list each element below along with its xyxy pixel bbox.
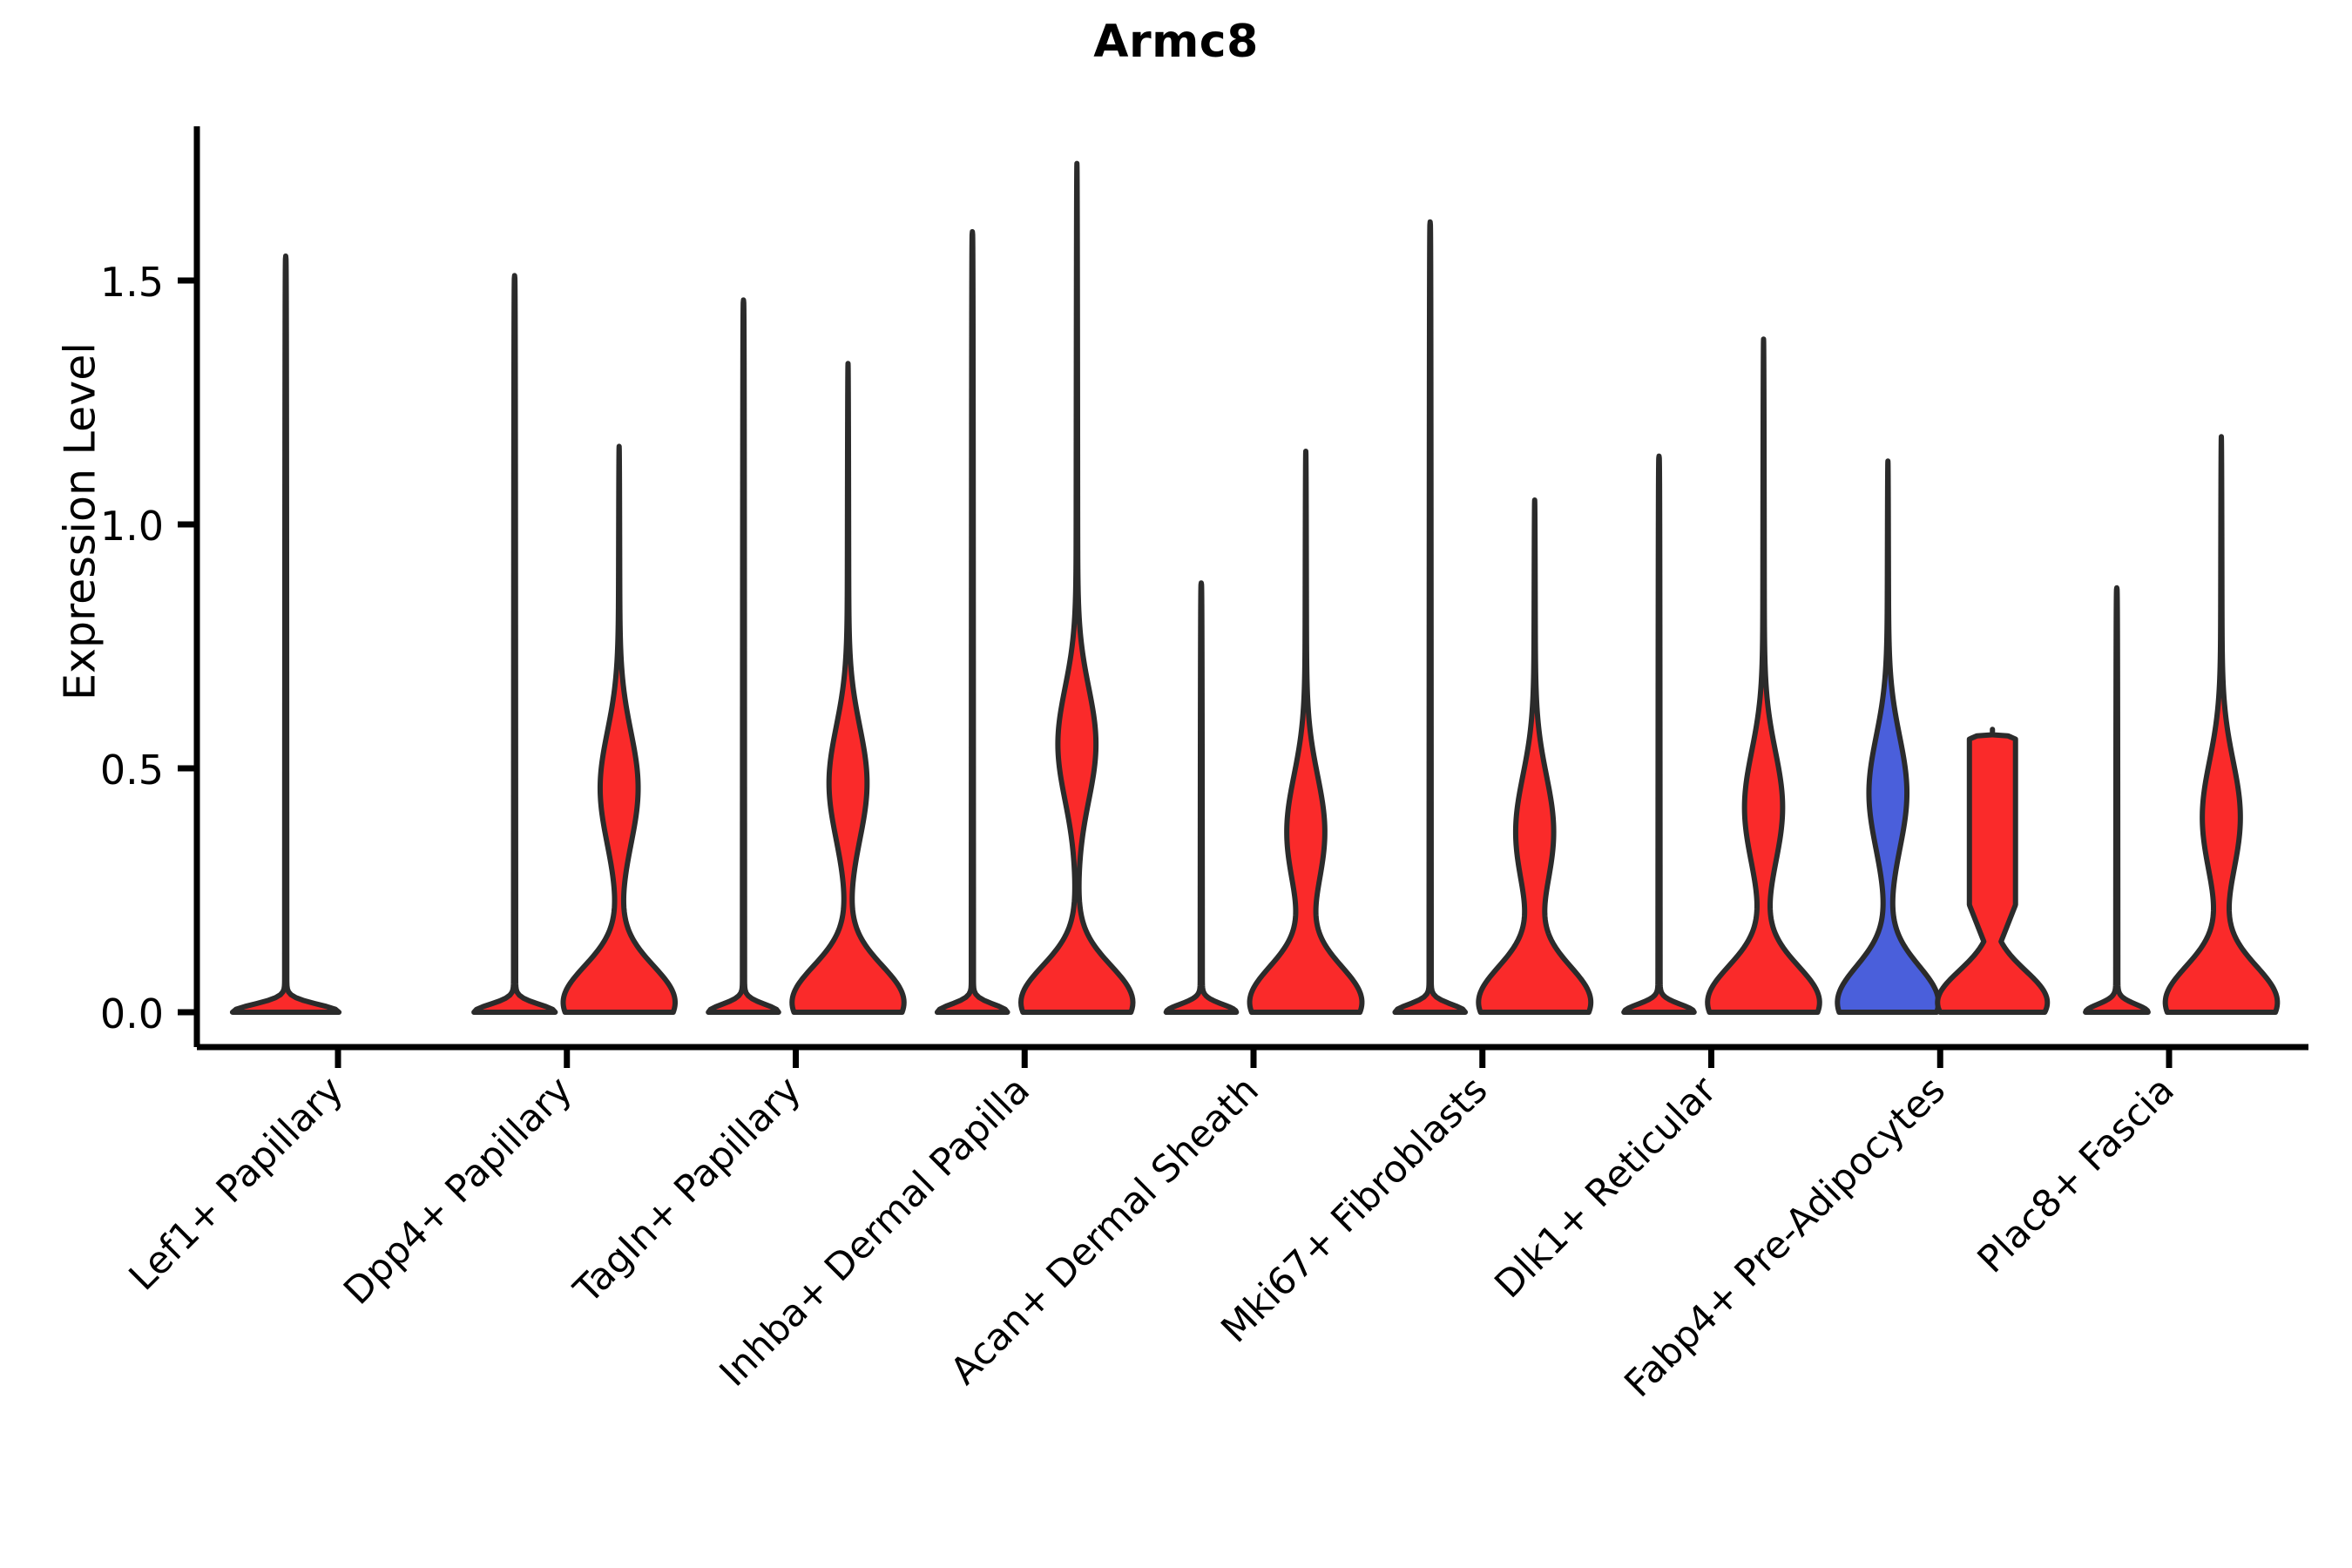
violin-group-left-5 [1395, 222, 1465, 1012]
violin-group-right-8 [2166, 436, 2278, 1012]
violin-group-right-6 [1707, 339, 1820, 1012]
violin-group-left-1 [474, 275, 555, 1012]
violin-group-left-7 [1837, 461, 1938, 1012]
x-tick-label-6: Dlk1+ Reticular [1487, 1068, 1726, 1307]
violin-plot-figure: Armc8 Expression Level 0.00.51.01.5 Lef1… [0, 0, 2352, 1568]
violin-group-right-3 [1021, 164, 1133, 1012]
y-tick-label-2: 1.0 [100, 503, 164, 550]
violin-group-right-4 [1250, 451, 1362, 1012]
y-tick-label-1: 0.5 [100, 747, 164, 794]
violin-group-left-0 [233, 256, 339, 1012]
violin-group [233, 164, 2277, 1012]
x-tick-label-0: Lef1+ Papillary [121, 1068, 352, 1299]
x-tick-label-2: TagIn+ Papillary [565, 1068, 809, 1312]
violin-group-right-2 [792, 363, 904, 1012]
violin-group-left-4 [1166, 583, 1237, 1012]
violin-group-left-6 [1624, 456, 1694, 1012]
x-tick-label-1: Dpp4+ Papillary [335, 1068, 580, 1313]
x-tick-label-group: Lef1+ PapillaryDpp4+ PapillaryTagIn+ Pap… [121, 1068, 2183, 1406]
violin-group-right-1 [564, 446, 675, 1012]
violin-group-left-8 [2085, 588, 2148, 1012]
violin-group-right-7 [1937, 729, 2047, 1012]
y-tick-label-3: 1.5 [100, 259, 164, 306]
y-tick-label-0: 0.0 [100, 990, 164, 1037]
violin-group-right-5 [1478, 500, 1591, 1012]
violin-group-left-2 [708, 300, 779, 1012]
y-tick-label-group: 0.00.51.01.5 [100, 259, 164, 1037]
violin-group-left-3 [937, 232, 1008, 1012]
x-tick-label-8: Plac8+ Fascia [1970, 1068, 2183, 1281]
plot-canvas: 0.00.51.01.5 Lef1+ PapillaryDpp4+ Papill… [0, 0, 2352, 1568]
